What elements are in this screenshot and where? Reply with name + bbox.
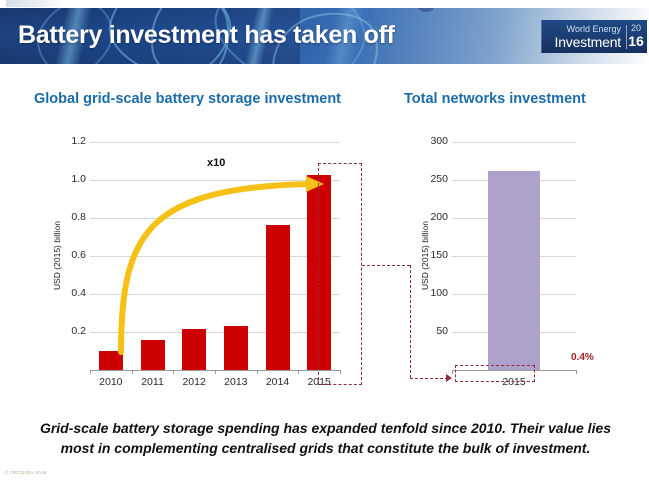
top-strip-decoration (6, 0, 66, 7)
share-percent-label: 0.4% (571, 352, 594, 363)
x-axis-tickmark (173, 370, 174, 374)
highlight-box-2015-battery (318, 163, 362, 385)
connector-segment (362, 265, 410, 266)
x-axis-tickmark (298, 370, 299, 374)
y-axis-tick-label: 0.2 (56, 325, 86, 337)
bar-2010 (99, 351, 123, 370)
gridline (90, 218, 340, 219)
bar-2012 (182, 329, 206, 370)
gridline (90, 180, 340, 181)
bar-2014 (266, 225, 290, 370)
page-title: Battery investment has taken off (18, 21, 395, 50)
world-energy-investment-logo: World Energy Investment 20 16 (541, 20, 647, 53)
connector-arrowhead-icon (446, 374, 452, 382)
top-strip (0, 0, 649, 8)
bar-2015 (488, 171, 540, 370)
y-axis-label-networks: USD (2015) billion (420, 221, 430, 290)
x-axis-tickmark (576, 370, 577, 374)
gridline (90, 332, 340, 333)
bar-2013 (224, 326, 248, 370)
gridline (90, 142, 340, 143)
gridline (90, 256, 340, 257)
y-axis-tick-label: 50 (418, 325, 448, 337)
y-axis-tick-label: 1.0 (56, 173, 86, 185)
gridline (90, 294, 340, 295)
bar-2011 (141, 340, 165, 370)
connector-segment (410, 378, 448, 379)
logo-line-1: World Energy (550, 25, 621, 34)
logo-line-2: Investment (550, 35, 621, 49)
logo-year-bottom: 16 (627, 34, 645, 49)
banner-orb-icon (418, 8, 434, 12)
y-axis-tick-label: 250 (418, 173, 448, 185)
caption-text: Grid-scale battery storage spending has … (28, 418, 623, 459)
y-axis-tick-label: 300 (418, 135, 448, 147)
x10-annotation: x10 (207, 157, 225, 169)
chart-title-networks: Total networks investment (404, 91, 586, 107)
connector-segment (410, 265, 411, 378)
x-axis-tickmark (90, 370, 91, 374)
copyright-note: © OECD/IEA 2016 (5, 470, 47, 475)
x-axis-tickmark (132, 370, 133, 374)
x-axis-tickmark (215, 370, 216, 374)
logo-wordmark: World Energy Investment (542, 25, 627, 49)
gridline (452, 142, 576, 143)
highlight-box-2015-networks (455, 365, 535, 382)
x-axis-tickmark (257, 370, 258, 374)
chart-title-battery: Global grid-scale battery storage invest… (34, 91, 341, 107)
x-axis-tickmark (452, 370, 453, 374)
y-axis-label-battery: USD (2015) billion (52, 221, 62, 290)
y-axis-tick-label: 1.2 (56, 135, 86, 147)
logo-year: 20 16 (627, 24, 647, 48)
